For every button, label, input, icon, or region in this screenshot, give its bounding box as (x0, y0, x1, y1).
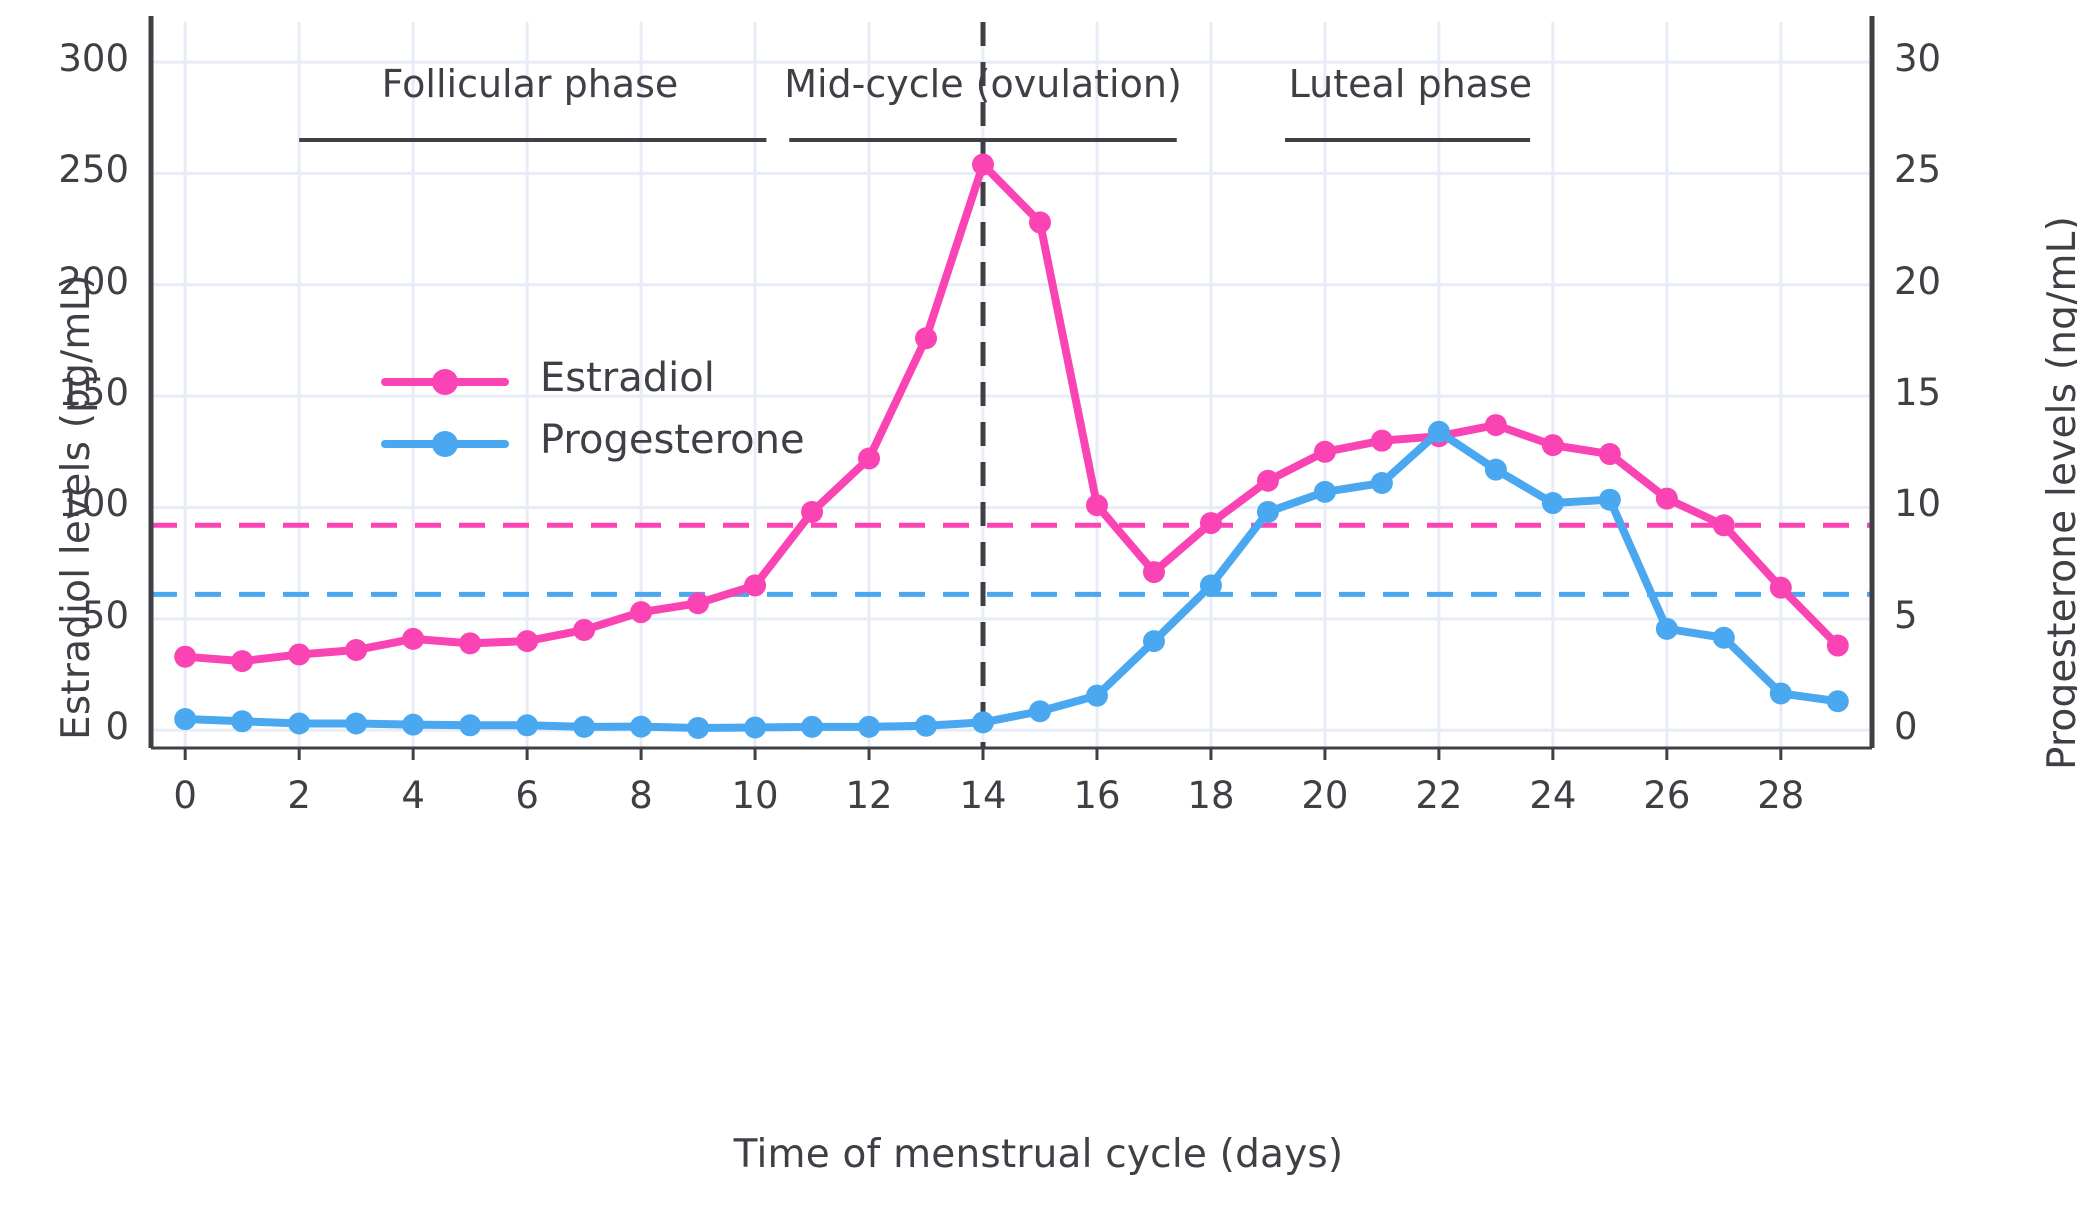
y-tick-label-right: 10 (1894, 482, 2024, 525)
x-axis-title: Time of menstrual cycle (days) (0, 1132, 2077, 1177)
data-point-estradiol (972, 154, 994, 176)
data-point-progesterone (858, 716, 880, 738)
x-tick-label: 8 (581, 774, 701, 817)
data-point-estradiol (1314, 441, 1336, 463)
data-point-progesterone (573, 716, 595, 738)
data-point-estradiol (402, 628, 424, 650)
data-point-progesterone (915, 715, 937, 737)
data-point-progesterone (1428, 421, 1450, 443)
data-point-progesterone (1257, 501, 1279, 523)
data-point-progesterone (231, 710, 253, 732)
x-tick-label: 24 (1493, 774, 1613, 817)
y-tick-label-right: 15 (1894, 371, 2024, 414)
data-point-progesterone (1200, 574, 1222, 596)
data-point-estradiol (744, 574, 766, 596)
x-tick-label: 6 (467, 774, 587, 817)
data-point-estradiol (1827, 635, 1849, 657)
y-tick-label-right: 20 (1894, 260, 2024, 303)
x-tick-label: 28 (1721, 774, 1841, 817)
plot-canvas (0, 0, 2077, 1208)
data-point-progesterone (288, 713, 310, 735)
data-point-progesterone (1086, 685, 1108, 707)
x-tick-label: 10 (695, 774, 815, 817)
x-tick-label: 16 (1037, 774, 1157, 817)
y-tick-label-left: 250 (0, 148, 129, 191)
x-tick-label: 4 (353, 774, 473, 817)
data-point-estradiol (858, 447, 880, 469)
data-point-estradiol (801, 501, 823, 523)
y-tick-label-right: 0 (1894, 705, 2024, 748)
data-point-estradiol (1542, 434, 1564, 456)
y-axis-title-left: Estradiol levels (pg/mL) (54, 274, 99, 740)
x-tick-label: 22 (1379, 774, 1499, 817)
data-point-progesterone (801, 716, 823, 738)
x-tick-label: 26 (1607, 774, 1727, 817)
tick-marks (185, 748, 1781, 760)
data-point-estradiol (174, 646, 196, 668)
x-tick-label: 18 (1151, 774, 1271, 817)
legend-marker-estradiol (432, 369, 458, 395)
data-point-estradiol (288, 643, 310, 665)
data-point-progesterone (1770, 682, 1792, 704)
data-point-estradiol (687, 592, 709, 614)
data-point-progesterone (1656, 618, 1678, 640)
data-point-progesterone (744, 717, 766, 739)
legend-swatches (385, 369, 505, 457)
y-axis-title-right: Progesterone levels (ng/mL) (2040, 216, 2077, 770)
data-point-progesterone (402, 714, 424, 736)
y-tick-label-left: 300 (0, 37, 129, 80)
data-point-progesterone (345, 713, 367, 735)
data-point-estradiol (1656, 488, 1678, 510)
data-point-estradiol (1770, 577, 1792, 599)
legend-label-progesterone: Progesterone (540, 417, 805, 463)
series-line-progesterone (185, 432, 1838, 728)
data-point-progesterone (687, 717, 709, 739)
data-point-estradiol (1371, 430, 1393, 452)
legend-marker-progesterone (432, 431, 458, 457)
x-tick-label: 0 (125, 774, 245, 817)
data-point-progesterone (1827, 690, 1849, 712)
y-tick-label-right: 25 (1894, 148, 2024, 191)
x-tick-label: 20 (1265, 774, 1385, 817)
data-point-estradiol (345, 639, 367, 661)
data-point-estradiol (231, 650, 253, 672)
data-point-progesterone (516, 714, 538, 736)
data-point-progesterone (1143, 630, 1165, 652)
data-point-progesterone (1029, 700, 1051, 722)
x-tick-label: 14 (923, 774, 1043, 817)
data-point-estradiol (915, 327, 937, 349)
data-point-progesterone (459, 714, 481, 736)
data-point-progesterone (1371, 472, 1393, 494)
data-point-estradiol (1200, 512, 1222, 534)
data-point-estradiol (1599, 443, 1621, 465)
data-point-estradiol (516, 630, 538, 652)
data-point-estradiol (630, 601, 652, 623)
data-point-estradiol (1143, 561, 1165, 583)
data-point-progesterone (1542, 492, 1564, 514)
data-point-progesterone (630, 716, 652, 738)
y-tick-label-right: 5 (1894, 594, 2024, 637)
data-point-estradiol (573, 619, 595, 641)
annotation-luteal-phase: Luteal phase (1110, 62, 1710, 106)
data-point-progesterone (174, 708, 196, 730)
data-point-estradiol (1485, 414, 1507, 436)
chart-figure: 0501001502002503000510152025300246810121… (0, 0, 2077, 1208)
data-point-estradiol (459, 632, 481, 654)
y-tick-label-right: 30 (1894, 37, 2024, 80)
x-tick-label: 12 (809, 774, 929, 817)
data-point-progesterone (972, 711, 994, 733)
series-line-estradiol (185, 165, 1838, 662)
data-point-progesterone (1713, 627, 1735, 649)
x-tick-label: 2 (239, 774, 359, 817)
legend-label-estradiol: Estradiol (540, 355, 715, 401)
data-point-estradiol (1086, 494, 1108, 516)
data-point-estradiol (1029, 211, 1051, 233)
data-point-progesterone (1599, 489, 1621, 511)
data-point-estradiol (1713, 514, 1735, 536)
data-point-progesterone (1485, 459, 1507, 481)
data-point-progesterone (1314, 481, 1336, 503)
data-point-estradiol (1257, 470, 1279, 492)
